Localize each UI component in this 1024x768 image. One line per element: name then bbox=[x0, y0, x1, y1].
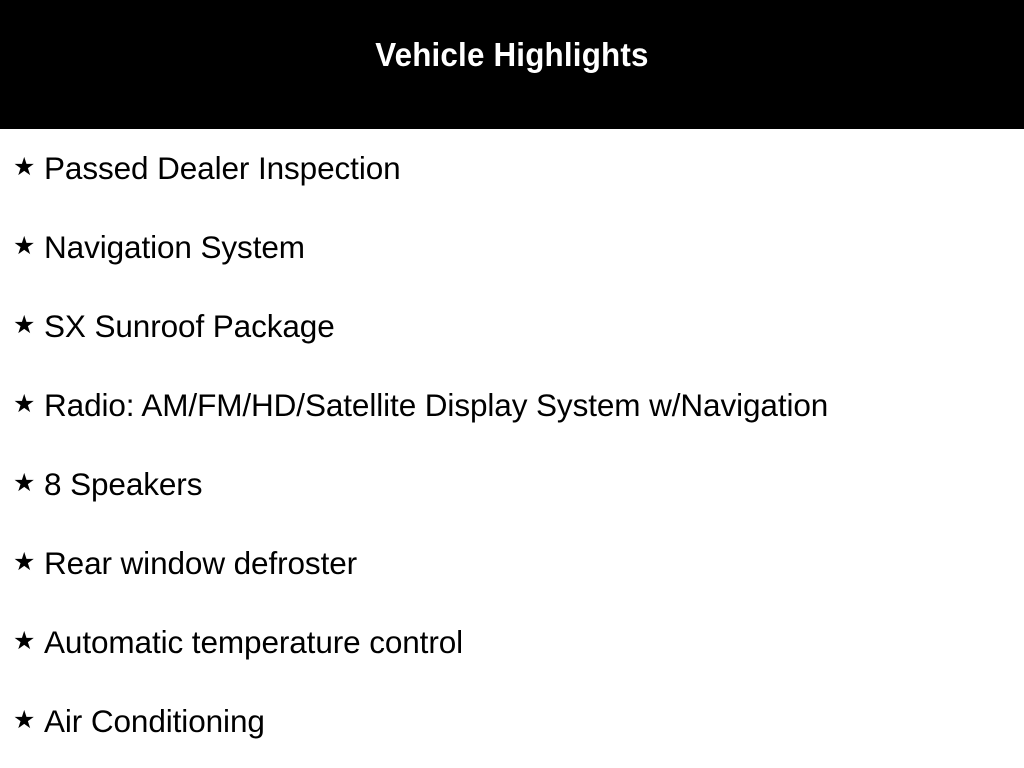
list-item: ★ Air Conditioning bbox=[0, 682, 1024, 761]
list-item: ★ SX Sunroof Package bbox=[0, 287, 1024, 366]
star-icon: ★ bbox=[13, 629, 44, 654]
star-icon: ★ bbox=[13, 392, 44, 417]
list-item-label: 8 Speakers bbox=[44, 467, 202, 502]
list-item-label: Passed Dealer Inspection bbox=[44, 151, 401, 186]
list-item: ★ Automatic temperature control bbox=[0, 603, 1024, 682]
list-item: ★ 8 Speakers bbox=[0, 445, 1024, 524]
page-title: Vehicle Highlights bbox=[375, 38, 648, 71]
star-icon: ★ bbox=[13, 471, 44, 496]
vehicle-highlights-list: ★ Passed Dealer Inspection ★ Navigation … bbox=[0, 129, 1024, 761]
list-item-label: Navigation System bbox=[44, 230, 305, 265]
vehicle-highlights-page: Vehicle Highlights ★ Passed Dealer Inspe… bbox=[0, 0, 1024, 768]
list-item: ★ Navigation System bbox=[0, 208, 1024, 287]
star-icon: ★ bbox=[13, 708, 44, 733]
star-icon: ★ bbox=[13, 155, 44, 180]
list-item-label: Radio: AM/FM/HD/Satellite Display System… bbox=[44, 388, 828, 423]
header-bar: Vehicle Highlights bbox=[0, 0, 1024, 129]
list-item: ★ Passed Dealer Inspection bbox=[0, 129, 1024, 208]
list-item: ★ Radio: AM/FM/HD/Satellite Display Syst… bbox=[0, 366, 1024, 445]
star-icon: ★ bbox=[13, 313, 44, 338]
list-item-label: Air Conditioning bbox=[44, 704, 265, 739]
star-icon: ★ bbox=[13, 234, 44, 259]
star-icon: ★ bbox=[13, 550, 44, 575]
list-item-label: Automatic temperature control bbox=[44, 625, 463, 660]
list-item-label: SX Sunroof Package bbox=[44, 309, 335, 344]
list-item: ★ Rear window defroster bbox=[0, 524, 1024, 603]
list-item-label: Rear window defroster bbox=[44, 546, 357, 581]
